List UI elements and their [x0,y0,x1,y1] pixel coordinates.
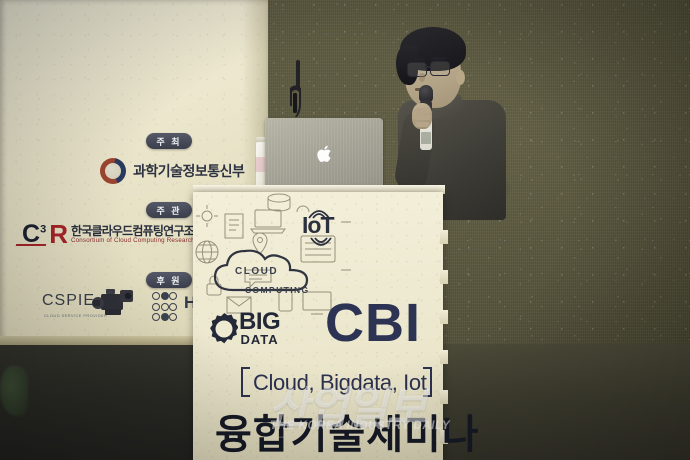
bigdata-words: BIG DATA [239,311,280,346]
speaker-nose [419,73,425,82]
dot [169,303,177,311]
subtitle-bracket-right [423,367,432,397]
database-icon [268,194,290,202]
iot-signal-icon-bottom [303,236,339,257]
dot [169,292,177,300]
taeguk-emblem-icon [100,158,126,184]
eyeglasses-right-lens [430,61,450,76]
podium-edge-notch [440,350,448,364]
cbi-acronym: CBI [325,296,421,350]
sponsor-label-pill: 후 원 [146,272,192,288]
organizer-label-pill: 주 관 [146,202,192,218]
floor-left-carpet [0,344,193,460]
speaker-ear [456,70,465,85]
potted-plant-blur [0,366,28,416]
video-camera-icon [92,287,140,324]
podium-front-panel: CLOUD COMPUTING IoT BIG DATA [193,192,443,460]
laptop-icon [255,210,281,227]
eyeglasses-bridge [425,66,430,68]
apple-logo [316,145,333,164]
finger [415,122,430,127]
host-label-pill: 주 최 [146,133,192,149]
dot [152,313,160,321]
podium-edge-notch [440,270,448,284]
podium-edge-notch [440,230,448,244]
podium-edge-notch [440,310,448,324]
organizer-name-english: Consortium of Cloud Computing Research [71,238,204,244]
c3r-c-mark: C3 [22,224,46,245]
dot-grid-logo-icon [152,292,175,321]
c3r-superscript: 3 [40,224,46,236]
host-organization: 과학기술정보통신부 [100,158,244,184]
computing-word: COMPUTING [245,285,310,295]
finger [414,108,431,113]
organizer-name-block: 한국클라우드컴퓨팅연구조합 Consortium of Cloud Comput… [71,225,204,245]
bigdata-data-word: DATA [240,334,278,346]
dot [161,303,169,311]
photo-scene: 주 최 과학기술정보통신부 주 관 C3 R 한국클라우드컴퓨팅연구조합 Con… [0,0,690,460]
speaker-brow-left [409,58,424,61]
sponsor-cspie-logo: CSPIE [42,292,95,310]
subtitle-bracket-left [241,367,250,397]
dot [152,303,160,311]
organizer-name-korean: 한국클라우드컴퓨팅연구조합 [71,225,204,237]
c3r-underline-accent [16,244,46,246]
bigdata-big-word: BIG [239,311,280,334]
speaker-brow-right [431,57,446,60]
organizer-logo: C3 R 한국클라우드컴퓨팅연구조합 Consortium of Cloud C… [22,223,204,245]
microphone-clamp-icon [288,84,303,118]
macbook-lid [265,118,383,190]
document-icon [225,214,243,238]
dot [152,292,160,300]
microphone-label [421,132,431,144]
iot-word: IoT [302,212,334,239]
floor-right-carpet [443,344,690,460]
gear-icon [202,211,212,221]
finger [414,115,431,120]
ministry-name: 과학기술정보통신부 [133,161,244,181]
bigdata-logo: BIG DATA [210,311,280,346]
seminar-subtitle: Cloud, Bigdata, Iot [253,370,426,396]
c3r-r-letter: R [49,223,68,245]
dot [169,313,177,321]
gear-cog-icon [210,312,238,346]
seminar-korean-title: 융합기술세미나 [215,402,480,460]
cloud-word: CLOUD [235,266,278,277]
dot [161,313,169,321]
dot [161,292,169,300]
